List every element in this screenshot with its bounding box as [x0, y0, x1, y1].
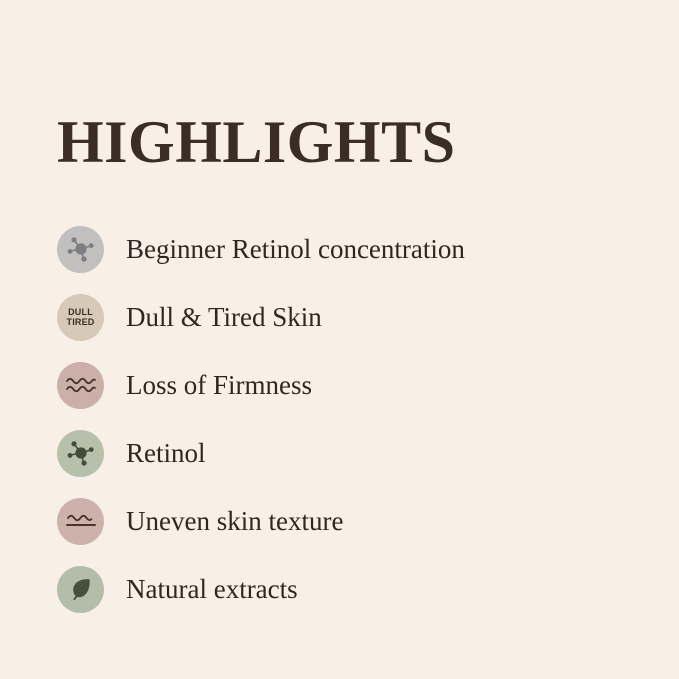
list-item: Natural extracts — [57, 555, 647, 623]
highlight-label: Retinol — [126, 437, 206, 469]
list-item: Uneven skin texture — [57, 487, 647, 555]
highlight-icon-circle — [57, 430, 104, 477]
leaf-icon — [67, 575, 95, 603]
highlight-label: Natural extracts — [126, 573, 298, 605]
list-item: Loss of Firmness — [57, 351, 647, 419]
wave-over-line-icon — [65, 510, 97, 532]
highlight-icon-circle: DULL TIRED — [57, 294, 104, 341]
list-item: Beginner Retinol concentration — [57, 215, 647, 283]
highlight-icon-circle — [57, 226, 104, 273]
highlight-icon-circle — [57, 362, 104, 409]
highlight-icon-circle — [57, 566, 104, 613]
double-wave-icon — [65, 374, 97, 396]
page-title: HIGHLIGHTS — [57, 110, 455, 174]
highlight-label: Dull & Tired Skin — [126, 301, 322, 333]
molecule-icon — [66, 234, 96, 264]
dull-tired-badge-icon: DULL TIRED — [67, 307, 95, 328]
highlight-label: Uneven skin texture — [126, 505, 343, 537]
molecule-icon — [66, 438, 96, 468]
highlight-icon-circle — [57, 498, 104, 545]
badge-line-2: TIRED — [67, 317, 95, 328]
highlights-list: Beginner Retinol concentration DULL TIRE… — [57, 215, 647, 623]
badge-line-1: DULL — [67, 307, 95, 318]
highlight-label: Beginner Retinol concentration — [126, 233, 465, 265]
highlights-panel: HIGHLIGHTS — [0, 0, 679, 679]
list-item: Retinol — [57, 419, 647, 487]
highlight-label: Loss of Firmness — [126, 369, 312, 401]
list-item: DULL TIRED Dull & Tired Skin — [57, 283, 647, 351]
